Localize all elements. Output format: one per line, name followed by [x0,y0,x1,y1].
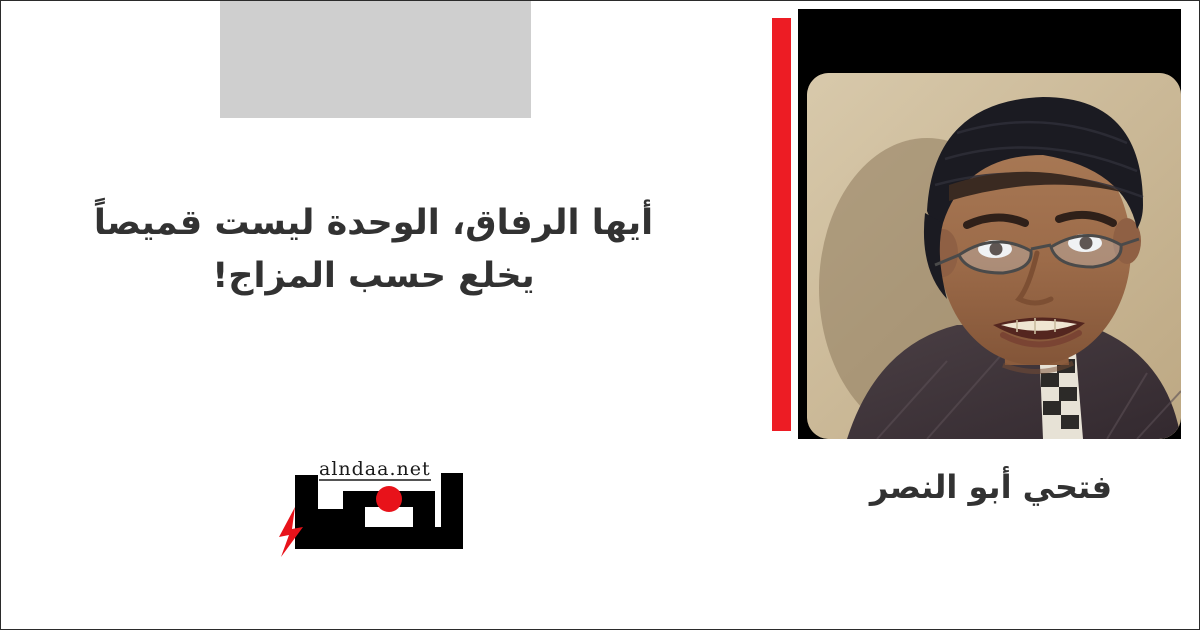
logo-domain-text: alndaa.net [319,458,431,480]
accent-bar [772,18,791,431]
logo-wordmark-shape [295,473,463,549]
author-name: فتحي أبو النصر [801,467,1181,509]
author-portrait [807,73,1181,439]
logo-mark-svg: alndaa.net [273,453,488,563]
headline-text: أيها الرفاق، الوحدة ليست قميصاً يخلع حسب… [61,197,686,303]
site-logo[interactable]: alndaa.net [273,453,488,563]
logo-dot-icon [376,486,402,512]
portrait-illustration [807,73,1181,439]
image-placeholder [220,1,531,118]
article-card: أيها الرفاق، الوحدة ليست قميصاً يخلع حسب… [0,0,1200,630]
